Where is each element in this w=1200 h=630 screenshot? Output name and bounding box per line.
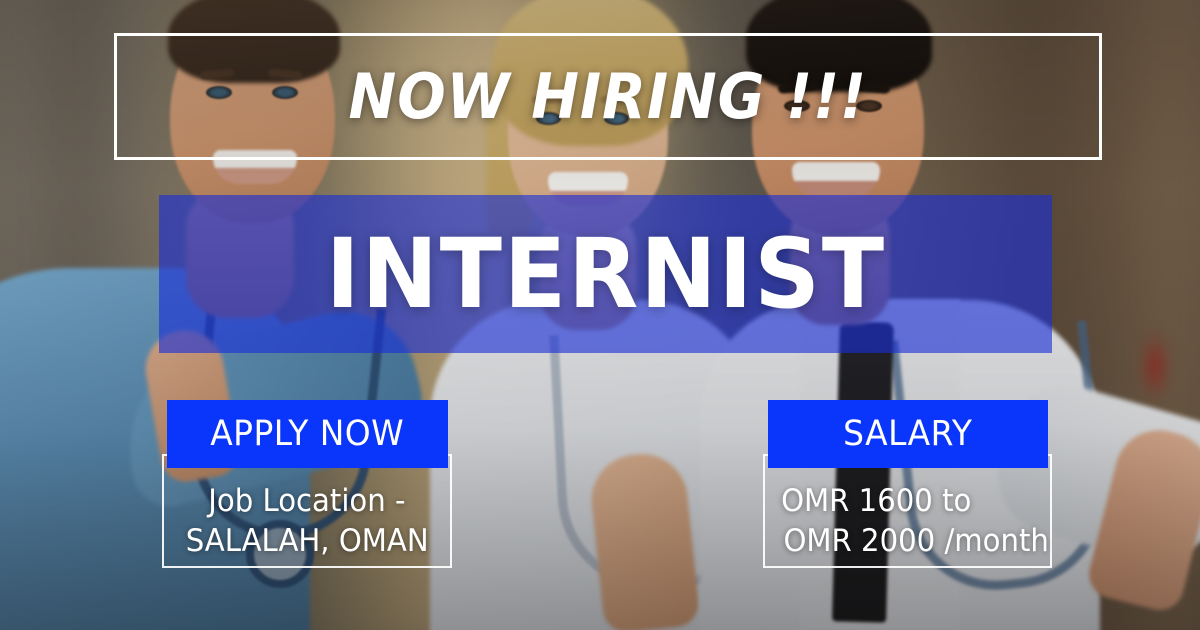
apply-now-header-bar[interactable]: APPLY NOW — [167, 400, 448, 468]
apply-now-box: APPLY NOW Job Location - SALALAH, OMAN — [162, 400, 452, 568]
job-title-text: INTERNIST — [325, 218, 885, 330]
job-location-label: Job Location - — [208, 481, 405, 521]
salary-label: SALARY — [843, 414, 972, 454]
apply-now-label: APPLY NOW — [211, 414, 405, 454]
job-title-banner: INTERNIST — [159, 195, 1052, 353]
salary-range-to: OMR 2000 /month — [783, 521, 1048, 561]
job-advertisement-poster: NOW HIRING !!! INTERNIST APPLY NOW Job L… — [0, 0, 1200, 630]
salary-header-bar: SALARY — [768, 400, 1048, 468]
apply-now-body: Job Location - SALALAH, OMAN — [162, 468, 452, 568]
now-hiring-headline: NOW HIRING !!! — [349, 60, 867, 133]
salary-range-from: OMR 1600 to — [781, 481, 971, 521]
now-hiring-frame: NOW HIRING !!! — [114, 33, 1102, 160]
salary-box: SALARY OMR 1600 to OMR 2000 /month — [763, 400, 1052, 568]
salary-body: OMR 1600 to OMR 2000 /month — [763, 468, 1052, 568]
job-location-value: SALALAH, OMAN — [186, 521, 429, 561]
